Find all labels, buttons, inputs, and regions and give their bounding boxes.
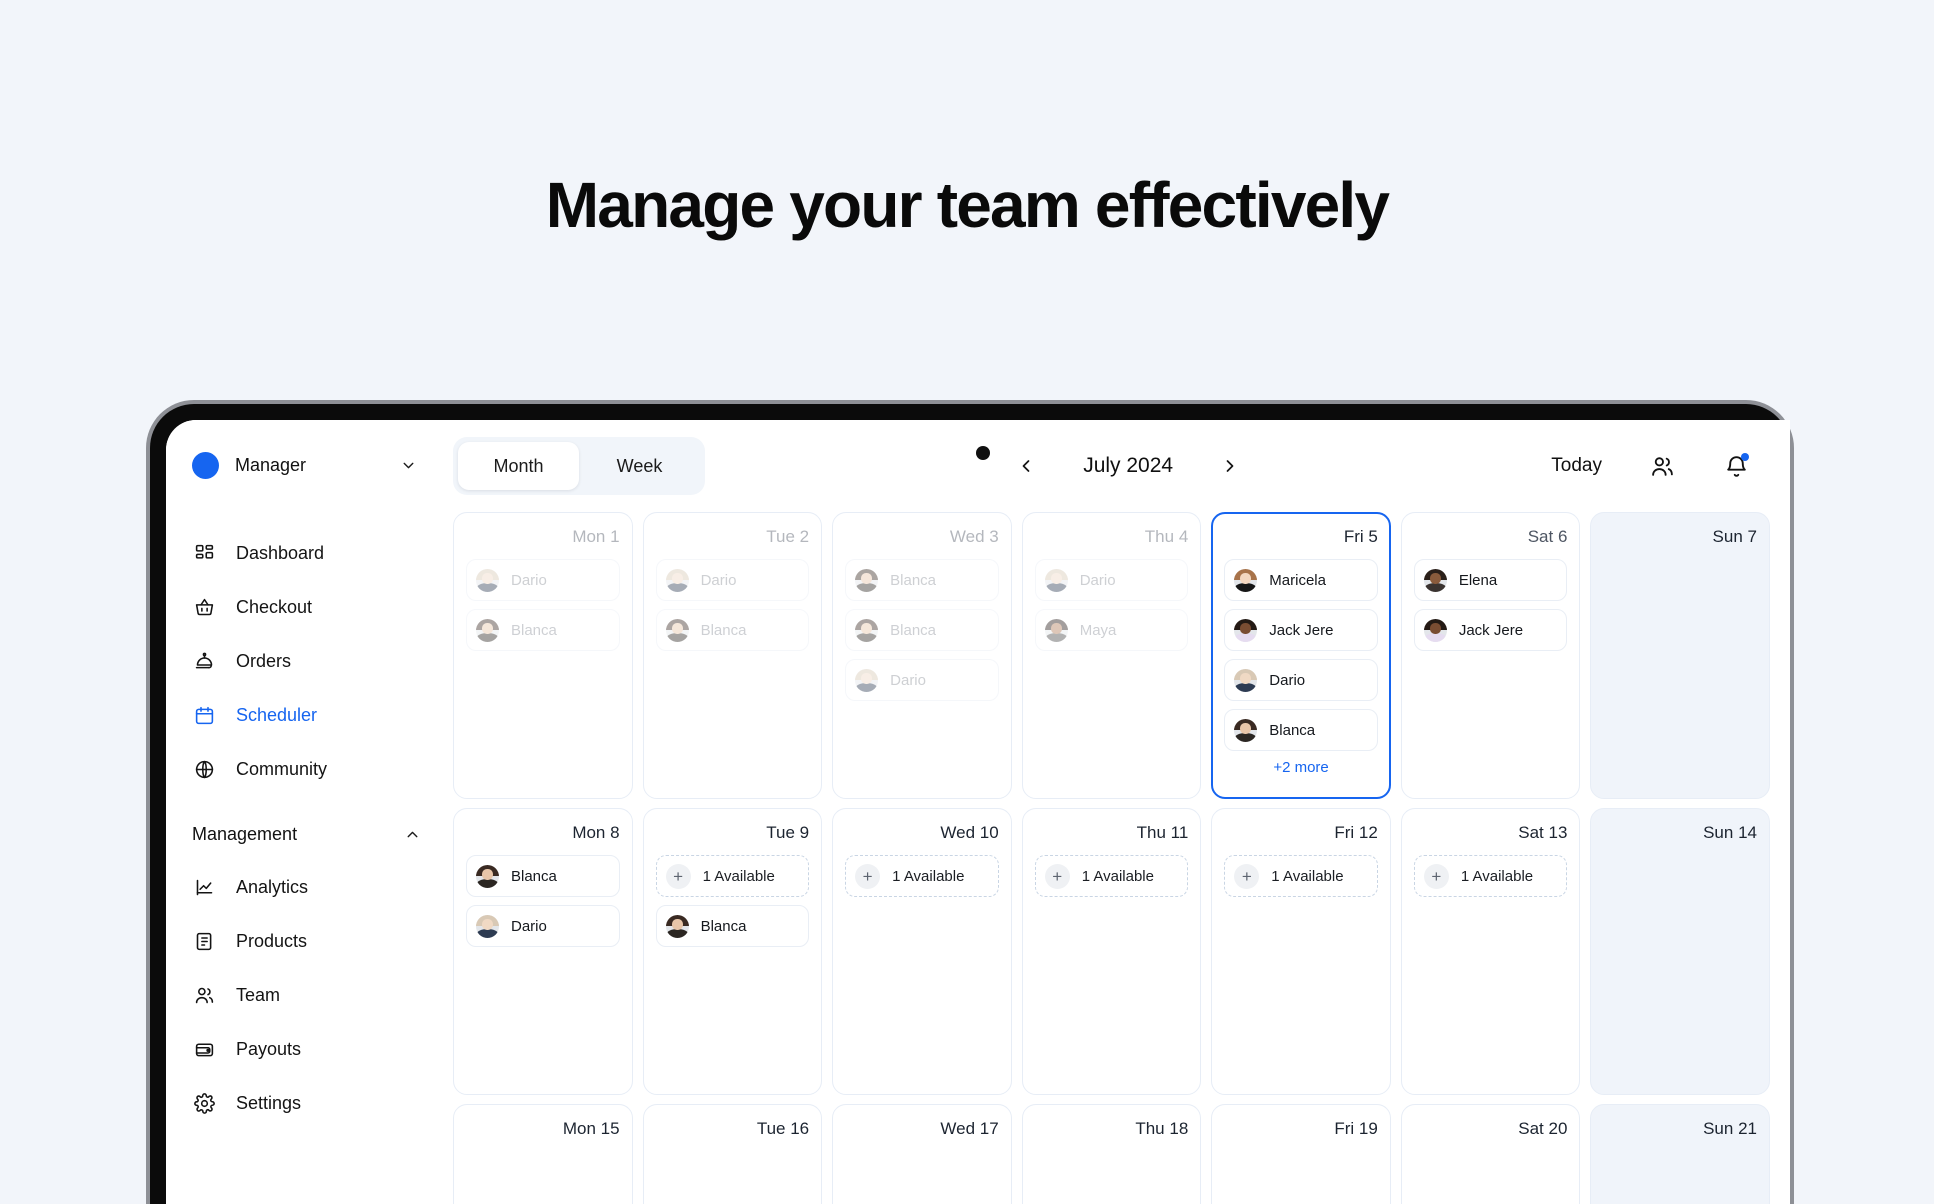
- calendar-grid: Mon 1DarioBlancaTue 2DarioBlancaWed 3Bla…: [443, 512, 1790, 1204]
- day-label: Sat 6: [1414, 527, 1568, 547]
- avatar: [1424, 619, 1447, 642]
- dashboard-icon: [192, 541, 216, 565]
- plus-icon: +: [1424, 864, 1449, 889]
- calendar-day-cell[interactable]: Wed 17: [832, 1104, 1012, 1204]
- chevron-up-icon: [404, 826, 421, 843]
- calendar-day-cell[interactable]: Mon 1DarioBlanca: [453, 512, 633, 799]
- sidebar-item-label: Dashboard: [236, 543, 324, 564]
- shift-chip[interactable]: Dario: [466, 559, 620, 601]
- basket-icon: [192, 595, 216, 619]
- sidebar-item-products[interactable]: Products: [188, 914, 421, 968]
- person-name: Blanca: [511, 622, 557, 639]
- available-slot[interactable]: +1 Available: [1224, 855, 1378, 897]
- shift-chip[interactable]: Blanca: [466, 609, 620, 651]
- avatar: [476, 569, 499, 592]
- bell-icon[interactable]: [1722, 452, 1750, 480]
- shift-chip[interactable]: Dario: [845, 659, 999, 701]
- avatar: [855, 669, 878, 692]
- day-label: Mon 15: [466, 1119, 620, 1139]
- person-name: Maya: [1080, 622, 1117, 639]
- sidebar-item-community[interactable]: Community: [188, 742, 421, 796]
- calendar-day-cell[interactable]: Wed 3BlancaBlancaDario: [832, 512, 1012, 799]
- day-label: Wed 17: [845, 1119, 999, 1139]
- person-name: Jack Jere: [1269, 622, 1333, 639]
- management-nav: Analytics Products Team: [188, 860, 421, 1130]
- shift-chip[interactable]: Dario: [1224, 659, 1378, 701]
- day-label: Mon 8: [466, 823, 620, 843]
- sidebar-item-label: Community: [236, 759, 327, 780]
- sidebar-item-label: Products: [236, 931, 307, 952]
- day-label: Mon 1: [466, 527, 620, 547]
- calendar-day-cell[interactable]: Fri 19: [1211, 1104, 1391, 1204]
- person-name: Blanca: [890, 572, 936, 589]
- calendar-day-cell[interactable]: Sat 13+1 Available: [1401, 808, 1581, 1095]
- shift-chip[interactable]: Jack Jere: [1414, 609, 1568, 651]
- person-name: Dario: [511, 918, 547, 935]
- shift-chip[interactable]: Jack Jere: [1224, 609, 1378, 651]
- page-headline: Manage your team effectively: [0, 168, 1934, 242]
- slot-label: 1 Available: [703, 868, 775, 885]
- sidebar-item-team[interactable]: Team: [188, 968, 421, 1022]
- view-mode-switch: Month Week: [453, 437, 705, 495]
- globe-icon: [192, 757, 216, 781]
- sidebar-item-scheduler[interactable]: Scheduler: [188, 688, 421, 742]
- slot-label: 1 Available: [892, 868, 964, 885]
- calendar-day-cell[interactable]: Mon 15: [453, 1104, 633, 1204]
- calendar-week-row: Mon 8BlancaDarioTue 9+1 AvailableBlancaW…: [453, 808, 1770, 1095]
- sidebar-item-label: Checkout: [236, 597, 312, 618]
- products-icon: [192, 929, 216, 953]
- plus-icon: +: [855, 864, 880, 889]
- sidebar-item-label: Team: [236, 985, 280, 1006]
- day-label: Thu 11: [1035, 823, 1189, 843]
- day-label: Fri 19: [1224, 1119, 1378, 1139]
- person-name: Maricela: [1269, 572, 1326, 589]
- sidebar-item-label: Scheduler: [236, 705, 317, 726]
- calendar-day-cell[interactable]: Thu 11+1 Available: [1022, 808, 1202, 1095]
- person-name: Blanca: [511, 868, 557, 885]
- room-service-icon: [192, 649, 216, 673]
- tab-week[interactable]: Week: [579, 442, 700, 490]
- day-label: Tue 16: [656, 1119, 810, 1139]
- day-label: Tue 9: [656, 823, 810, 843]
- calendar-icon: [192, 703, 216, 727]
- workspace-avatar: [192, 452, 219, 479]
- calendar-day-cell[interactable]: Sat 6ElenaJack Jere: [1401, 512, 1581, 799]
- current-period-label: July 2024: [1063, 454, 1193, 478]
- sidebar: Manager Dashboard Checkout: [166, 420, 443, 1204]
- day-label: Wed 3: [845, 527, 999, 547]
- shift-chip[interactable]: Blanca: [466, 855, 620, 897]
- person-name: Dario: [511, 572, 547, 589]
- avatar: [476, 865, 499, 888]
- day-label: Sun 21: [1603, 1119, 1757, 1139]
- avatar: [855, 569, 878, 592]
- app-screen: Manager Dashboard Checkout: [166, 420, 1790, 1204]
- sidebar-group-label: Management: [192, 824, 404, 845]
- plus-icon: +: [1045, 864, 1070, 889]
- person-name: Dario: [1080, 572, 1116, 589]
- avatar: [855, 619, 878, 642]
- avatar: [1234, 619, 1257, 642]
- calendar-day-cell[interactable]: Tue 2DarioBlanca: [643, 512, 823, 799]
- calendar-day-cell[interactable]: Fri 12+1 Available: [1211, 808, 1391, 1095]
- calendar-week-row: Mon 15Tue 16Wed 17Thu 18Fri 19Sat 20Sun …: [453, 1104, 1770, 1204]
- workspace-switcher[interactable]: Manager: [188, 442, 421, 488]
- day-label: Fri 12: [1224, 823, 1378, 843]
- scheduler-toolbar: Month Week July 2024 Today: [443, 420, 1790, 512]
- sidebar-item-orders[interactable]: Orders: [188, 634, 421, 688]
- tab-month[interactable]: Month: [458, 442, 579, 490]
- person-name: Blanca: [890, 622, 936, 639]
- camera-icon: [976, 446, 990, 460]
- sidebar-group-management[interactable]: Management: [188, 808, 421, 860]
- shift-chip[interactable]: Dario: [1035, 559, 1189, 601]
- day-label: Thu 18: [1035, 1119, 1189, 1139]
- available-slot[interactable]: +1 Available: [656, 855, 810, 897]
- day-label: Sun 7: [1603, 527, 1757, 547]
- notification-badge: [1741, 453, 1749, 461]
- shift-chip[interactable]: Maya: [1035, 609, 1189, 651]
- analytics-icon: [192, 875, 216, 899]
- day-label: Sat 20: [1414, 1119, 1568, 1139]
- sidebar-item-checkout[interactable]: Checkout: [188, 580, 421, 634]
- slot-label: 1 Available: [1082, 868, 1154, 885]
- available-slot[interactable]: +1 Available: [1414, 855, 1568, 897]
- sidebar-item-settings[interactable]: Settings: [188, 1076, 421, 1130]
- day-label: Wed 10: [845, 823, 999, 843]
- avatar: [1234, 719, 1257, 742]
- main-content: Month Week July 2024 Today: [443, 420, 1790, 1204]
- avatar: [1234, 569, 1257, 592]
- calendar-day-cell[interactable]: Thu 18: [1022, 1104, 1202, 1204]
- avatar: [1234, 669, 1257, 692]
- person-name: Dario: [701, 572, 737, 589]
- sidebar-item-dashboard[interactable]: Dashboard: [188, 526, 421, 580]
- person-name: Jack Jere: [1459, 622, 1523, 639]
- day-label: Thu 4: [1035, 527, 1189, 547]
- workspace-name: Manager: [235, 455, 400, 476]
- calendar-day-cell[interactable]: Sun 14: [1590, 808, 1770, 1095]
- shift-chip[interactable]: Blanca: [1224, 709, 1378, 751]
- calendar-day-cell[interactable]: Mon 8BlancaDario: [453, 808, 633, 1095]
- person-name: Dario: [890, 672, 926, 689]
- calendar-day-cell[interactable]: Wed 10+1 Available: [832, 808, 1012, 1095]
- avatar: [666, 915, 689, 938]
- sidebar-item-payouts[interactable]: Payouts: [188, 1022, 421, 1076]
- shift-chip[interactable]: Maricela: [1224, 559, 1378, 601]
- shift-chip[interactable]: Dario: [466, 905, 620, 947]
- shift-chip[interactable]: Dario: [656, 559, 810, 601]
- day-label: Sun 14: [1603, 823, 1757, 843]
- available-slot[interactable]: +1 Available: [845, 855, 999, 897]
- calendar-day-cell[interactable]: Tue 16: [643, 1104, 823, 1204]
- sidebar-item-label: Orders: [236, 651, 291, 672]
- gear-icon: [192, 1091, 216, 1115]
- avatar: [476, 619, 499, 642]
- calendar-day-cell[interactable]: Thu 4DarioMaya: [1022, 512, 1202, 799]
- avatar: [1045, 619, 1068, 642]
- today-button[interactable]: Today: [1551, 455, 1602, 477]
- chevron-left-icon[interactable]: [1015, 455, 1037, 477]
- primary-nav: Dashboard Checkout Orders: [188, 526, 421, 796]
- more-link[interactable]: +2 more: [1224, 759, 1378, 776]
- tablet-device-frame: Manager Dashboard Checkout: [150, 404, 1790, 1204]
- person-name: Dario: [1269, 672, 1305, 689]
- chevron-right-icon[interactable]: [1219, 455, 1241, 477]
- avatar: [666, 619, 689, 642]
- calendar-day-cell[interactable]: Tue 9+1 AvailableBlanca: [643, 808, 823, 1095]
- users-icon: [192, 983, 216, 1007]
- avatar: [1045, 569, 1068, 592]
- day-label: Sat 13: [1414, 823, 1568, 843]
- users-icon[interactable]: [1648, 452, 1676, 480]
- toolbar-actions: Today: [1551, 452, 1750, 480]
- sidebar-item-analytics[interactable]: Analytics: [188, 860, 421, 914]
- available-slot[interactable]: +1 Available: [1035, 855, 1189, 897]
- sidebar-item-label: Payouts: [236, 1039, 301, 1060]
- person-name: Blanca: [1269, 722, 1315, 739]
- person-name: Elena: [1459, 572, 1497, 589]
- shift-chip[interactable]: Blanca: [656, 905, 810, 947]
- shift-chip[interactable]: Blanca: [656, 609, 810, 651]
- day-label: Tue 2: [656, 527, 810, 547]
- calendar-day-cell[interactable]: Sun 7: [1590, 512, 1770, 799]
- calendar-week-row: Mon 1DarioBlancaTue 2DarioBlancaWed 3Bla…: [453, 512, 1770, 799]
- calendar-day-cell[interactable]: Sat 20: [1401, 1104, 1581, 1204]
- shift-chip[interactable]: Blanca: [845, 609, 999, 651]
- wallet-icon: [192, 1037, 216, 1061]
- avatar: [476, 915, 499, 938]
- slot-label: 1 Available: [1461, 868, 1533, 885]
- chevron-down-icon: [400, 457, 417, 474]
- calendar-day-cell[interactable]: Fri 5MaricelaJack JereDarioBlanca+2 more: [1211, 512, 1391, 799]
- avatar: [1424, 569, 1447, 592]
- person-name: Blanca: [701, 918, 747, 935]
- day-label: Fri 5: [1224, 527, 1378, 547]
- shift-chip[interactable]: Blanca: [845, 559, 999, 601]
- avatar: [666, 569, 689, 592]
- slot-label: 1 Available: [1271, 868, 1343, 885]
- person-name: Blanca: [701, 622, 747, 639]
- sidebar-item-label: Settings: [236, 1093, 301, 1114]
- plus-icon: +: [666, 864, 691, 889]
- plus-icon: +: [1234, 864, 1259, 889]
- sidebar-item-label: Analytics: [236, 877, 308, 898]
- shift-chip[interactable]: Elena: [1414, 559, 1568, 601]
- date-navigation: July 2024: [705, 454, 1551, 478]
- calendar-day-cell[interactable]: Sun 21: [1590, 1104, 1770, 1204]
